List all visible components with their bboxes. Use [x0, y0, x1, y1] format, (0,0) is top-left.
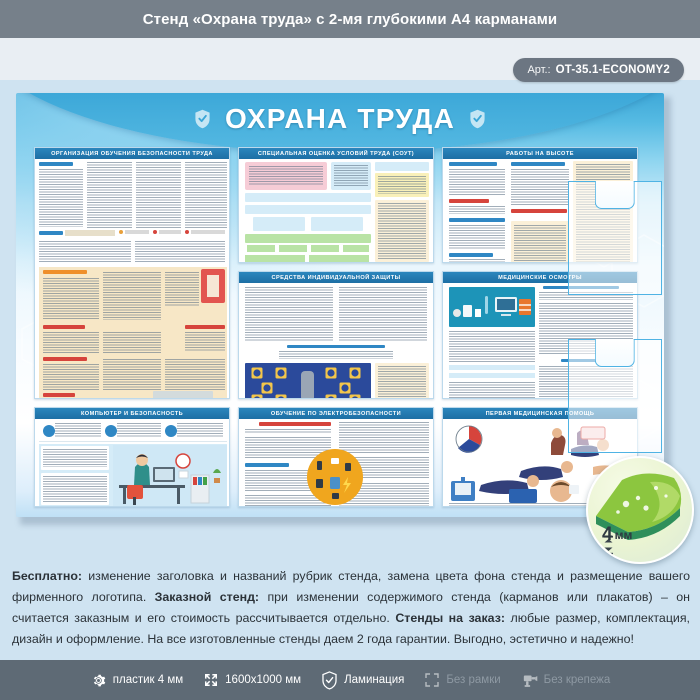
order-label: Стенды на заказ: [395, 611, 505, 625]
article-badge: Арт.: OT-35.1-ECONOMY2 [513, 58, 684, 82]
poster-title: ОРГАНИЗАЦИЯ ОБУЧЕНИЯ БЕЗОПАСНОСТИ ТРУДА [51, 151, 213, 157]
poster-sredstva-zashity[interactable]: СРЕДСТВА ИНДИВИДУАЛЬНОЙ ЗАЩИТЫ [238, 271, 434, 399]
spec-material-label: пластик 4 мм [113, 674, 183, 686]
poster-title: КОМПЬЮТЕР И БЕЗОПАСНОСТЬ [81, 411, 183, 417]
ergonomic-workplace-illustration-icon [113, 445, 227, 507]
thickness-value-group: 4 мм [602, 524, 632, 546]
poster-header: СРЕДСТВА ИНДИВИДУАЛЬНОЙ ЗАЩИТЫ [239, 272, 433, 283]
article-value: OT-35.1-ECONOMY2 [556, 64, 670, 76]
poster-body [239, 283, 433, 398]
plastic-sheet-icon [588, 458, 694, 564]
spec-material: пластик 4 мм [90, 672, 183, 689]
poster-title: СПЕЦИАЛЬНАЯ ОЦЕНКА УСЛОВИЙ ТРУДА (СОУТ) [258, 151, 414, 157]
product-card-page: Стенд «Охрана труда» с 2-мя глубокими А4… [0, 0, 700, 700]
poster-elektrobezopasnost[interactable]: ОБУЧЕНИЕ ПО ЭЛЕКТРОБЕЗОПАСНОСТИ [238, 407, 434, 507]
stand-preview: ОХРАНА ТРУДА ОРГАНИЗАЦИЯ ОБУЧЕНИЯ БЕЗОПА… [16, 93, 671, 525]
poster-kompyuter-bezopasnost[interactable]: КОМПЬЮТЕР И БЕЗОПАСНОСТЬ [34, 407, 230, 507]
pocket-notch-icon [595, 181, 635, 209]
poster-header: КОМПЬЮТЕР И БЕЗОПАСНОСТЬ [35, 408, 229, 419]
article-label: Арт.: [527, 64, 550, 76]
spec-mounting-label: Без крепежа [544, 674, 611, 686]
spec-lamination-label: Ламинация [344, 674, 404, 686]
poster-title: РАБОТЫ НА ВЫСОТЕ [506, 151, 574, 157]
poster-body [239, 159, 433, 262]
page-title: Стенд «Охрана труда» с 2-мя глубокими А4… [143, 11, 558, 28]
gear-icon [90, 672, 107, 689]
shield-check-icon [194, 109, 211, 129]
description-paragraph: Бесплатно: изменение заголовка и названи… [12, 566, 690, 650]
poster-header: ОБУЧЕНИЕ ПО ЭЛЕКТРОБЕЗОПАСНОСТИ [239, 408, 433, 419]
a4-deep-pocket-bottom[interactable] [568, 339, 662, 453]
poster-header: СПЕЦИАЛЬНАЯ ОЦЕНКА УСЛОВИЙ ТРУДА (СОУТ) [239, 148, 433, 159]
stand-board: ОХРАНА ТРУДА ОРГАНИЗАЦИЯ ОБУЧЕНИЯ БЕЗОПА… [16, 93, 664, 517]
spec-footer: пластик 4 мм 1600x1000 мм Ламинация [0, 660, 700, 700]
stand-title: ОХРАНА ТРУДА [225, 103, 455, 135]
spec-size: 1600x1000 мм [203, 672, 301, 688]
poster-body [35, 159, 229, 398]
resize-icon [203, 672, 219, 688]
stand-header: ОХРАНА ТРУДА [16, 97, 664, 141]
poster-organizaciya-obucheniya[interactable]: ОРГАНИЗАЦИЯ ОБУЧЕНИЯ БЕЗОПАСНОСТИ ТРУДА [34, 147, 230, 399]
workplace-illustration-icon [449, 287, 535, 327]
a4-deep-pocket-top[interactable] [568, 181, 662, 295]
shield-check-icon [469, 109, 486, 129]
spec-mounting: Без крепежа [521, 672, 611, 689]
ppe-icons-group [245, 363, 371, 399]
frame-icon [424, 672, 440, 688]
free-label: Бесплатно: [12, 569, 82, 583]
poster-title: СРЕДСТВА ИНДИВИДУАЛЬНОЙ ЗАЩИТЫ [271, 275, 400, 281]
electric-safety-icons-icon [307, 449, 363, 505]
poster-header: РАБОТЫ НА ВЫСОТЕ [443, 148, 637, 159]
thickness-unit: мм [615, 528, 633, 542]
spec-frame: Без рамки [424, 672, 500, 688]
shield-check-icon [321, 671, 338, 690]
drill-icon [521, 672, 538, 689]
page-title-bar: Стенд «Охрана труда» с 2-мя глубокими А4… [0, 0, 700, 38]
poster-specialnaya-ocenka[interactable]: СПЕЦИАЛЬНАЯ ОЦЕНКА УСЛОВИЙ ТРУДА (СОУТ) [238, 147, 434, 263]
thickness-badge: 4 мм [586, 456, 694, 564]
spec-size-label: 1600x1000 мм [225, 674, 301, 686]
pocket-notch-icon [595, 339, 635, 367]
poster-title: ОБУЧЕНИЕ ПО ЭЛЕКТРОБЕЗОПАСНОСТИ [271, 411, 401, 417]
poster-grid: ОРГАНИЗАЦИЯ ОБУЧЕНИЯ БЕЗОПАСНОСТИ ТРУДА [16, 93, 664, 517]
poster-body [35, 419, 229, 506]
thickness-value: 4 [602, 524, 613, 546]
spec-frame-label: Без рамки [446, 674, 500, 686]
spec-lamination: Ламинация [321, 671, 404, 690]
custom-label: Заказной стенд: [155, 590, 259, 604]
poster-body [239, 419, 433, 506]
poster-header: ОРГАНИЗАЦИЯ ОБУЧЕНИЯ БЕЗОПАСНОСТИ ТРУДА [35, 148, 229, 159]
